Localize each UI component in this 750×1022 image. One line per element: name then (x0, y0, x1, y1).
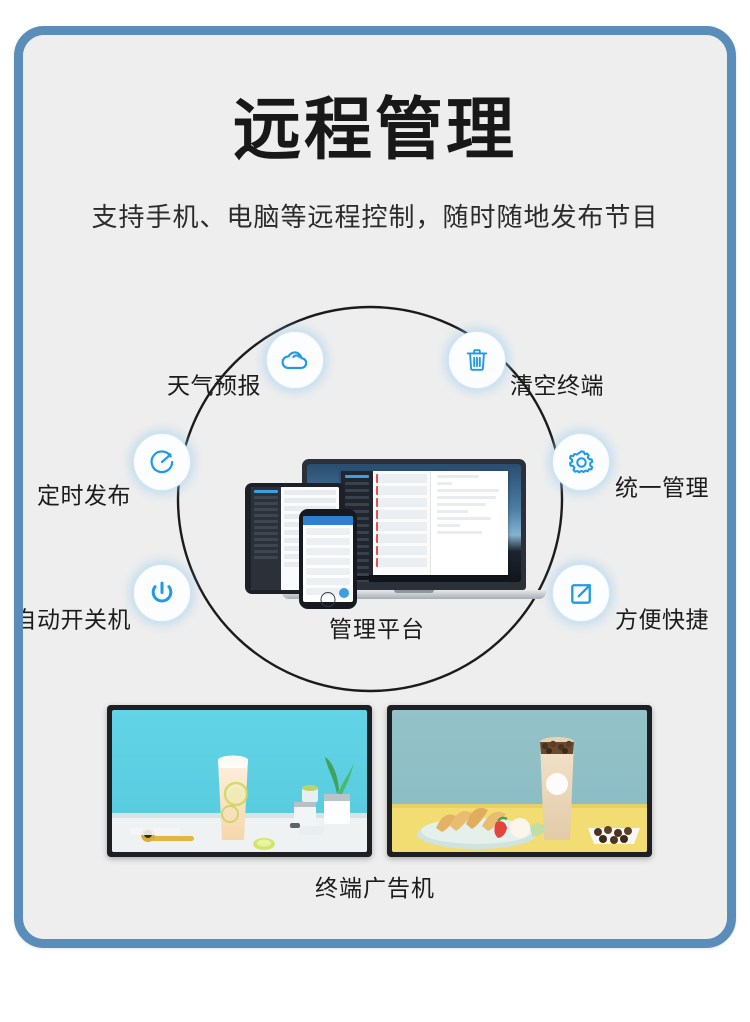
terminal-displays-caption: 终端广告机 (23, 869, 727, 903)
node-convenient[interactable] (552, 564, 610, 622)
page-title: 远程管理 (23, 97, 727, 165)
laptop-mail-app (341, 471, 508, 575)
phone-compose-button[interactable] (339, 588, 349, 598)
node-auto-power[interactable] (133, 564, 191, 622)
display-left-screen (112, 710, 367, 852)
mail-message-list (373, 471, 431, 575)
node-scheduled-publish[interactable] (133, 433, 191, 491)
node-label-weather: 天气预报 (167, 376, 261, 399)
timer-icon (146, 446, 178, 478)
node-unified-management[interactable] (552, 433, 610, 491)
terminal-display-left (107, 705, 372, 857)
node-clear-terminal[interactable] (448, 331, 506, 389)
node-label-auto-power: 自动开关机 (23, 610, 131, 633)
card-stage: 远程管理 支持手机、电脑等远程控制，随时随地发布节目 天气预报 (23, 35, 727, 939)
mail-reading-pane (431, 471, 508, 575)
node-label-convenient: 方便快捷 (615, 610, 709, 633)
device-cluster (227, 453, 527, 601)
trash-icon (462, 345, 492, 375)
node-label-scheduled-publish: 定时发布 (37, 486, 131, 509)
power-icon (147, 578, 177, 608)
page-subtitle: 支持手机、电脑等远程控制，随时随地发布节目 (23, 203, 727, 234)
phone (299, 509, 357, 609)
citrus-drink-advert (112, 710, 367, 852)
external-link-icon (566, 578, 597, 609)
node-label-clear-terminal: 清空终端 (510, 376, 604, 399)
gear-icon (565, 446, 598, 479)
tablet-mail-sidebar (251, 487, 281, 590)
phone-app-bar (303, 516, 353, 525)
cloud-icon (278, 343, 312, 377)
display-right-screen (392, 710, 647, 852)
node-weather[interactable] (266, 331, 324, 389)
phone-home-button[interactable] (321, 592, 336, 607)
product-card-frame: 远程管理 支持手机、电脑等远程控制，随时随地发布节目 天气预报 (14, 26, 736, 948)
device-cluster-caption: 管理平台 (227, 610, 527, 644)
bubble-tea-advert (392, 710, 647, 852)
node-label-unified-management: 统一管理 (615, 478, 709, 501)
terminal-display-right (387, 705, 652, 857)
